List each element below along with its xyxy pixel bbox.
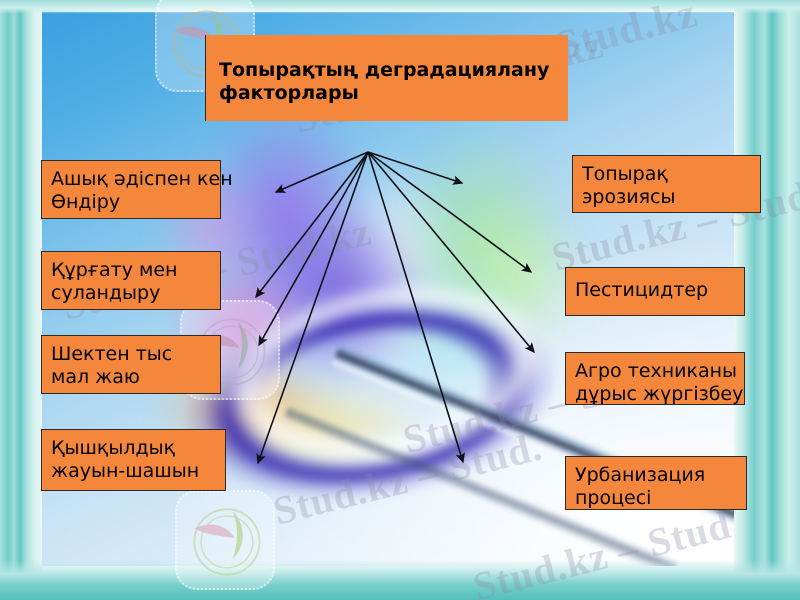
factor-label: Шектен тыс мал жаю — [51, 343, 211, 389]
factor-label: Топырақ эрозиясы — [582, 163, 751, 209]
factor-label: Ашық әдіспен кен Өндіру — [51, 168, 261, 214]
factor-label: Агро техниканы дұрыс жүргізбеу — [575, 360, 780, 406]
diagram-title-node: Топырақтың деградациялану факторлары — [205, 35, 568, 121]
factor-label: Құрғату мен суландыру — [51, 259, 211, 305]
factor-label: Урбанизация процесі — [575, 464, 737, 510]
factor-box-overgrazing[interactable]: Шектен тыс мал жаю — [41, 335, 221, 394]
factor-box-agrotechnics[interactable]: Агро техниканы дұрыс жүргізбеу — [565, 352, 745, 405]
slide-canvas: Stud.kz Stud.kz – Stud.kz Stud.kz – Stud… — [0, 0, 800, 600]
factor-box-pesticides[interactable]: Пестицидтер — [565, 267, 745, 316]
factor-box-open-pit-mining[interactable]: Ашық әдіспен кен Өндіру — [41, 160, 221, 219]
page-title: Топырақтың деградациялану факторлары — [219, 59, 559, 105]
factor-box-soil-erosion[interactable]: Топырақ эрозиясы — [572, 155, 761, 213]
factor-label: Пестицидтер — [575, 279, 735, 302]
factor-label: Қышқылдық жауын-шашын — [51, 437, 216, 483]
frame-edge-left — [0, 0, 42, 600]
frame-edge-bottom — [0, 560, 800, 600]
factor-box-acid-rain[interactable]: Қышқылдық жауын-шашын — [41, 429, 226, 491]
factor-box-urbanization[interactable]: Урбанизация процесі — [565, 456, 747, 510]
frame-edge-top — [0, 0, 800, 14]
factor-box-drainage-irrigation[interactable]: Құрғату мен суландыру — [41, 251, 221, 310]
